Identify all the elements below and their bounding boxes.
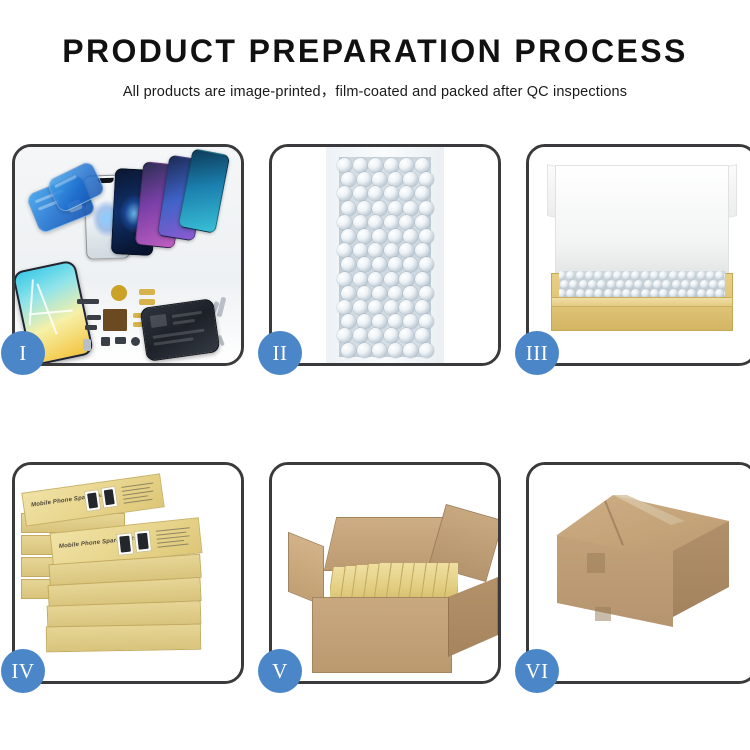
bubble (341, 172, 356, 187)
bubble (337, 158, 352, 173)
bubble (399, 300, 414, 315)
bubble (718, 280, 725, 289)
process-step-grid: I II III (12, 144, 738, 684)
bubble (631, 271, 640, 280)
bubble (700, 280, 709, 289)
page-header: PRODUCT PREPARATION PROCESS All products… (0, 0, 750, 101)
bubble (419, 343, 434, 358)
bubble (368, 215, 383, 230)
bubble (337, 186, 352, 201)
bubble (576, 271, 585, 280)
bubble (709, 280, 718, 289)
step-3-image (529, 147, 750, 363)
bubble (341, 229, 356, 244)
bubble (353, 215, 368, 230)
bubble (419, 257, 434, 272)
bubble (384, 272, 399, 287)
bubble (337, 328, 352, 343)
bubble (403, 229, 418, 244)
bubble (419, 201, 434, 216)
bubble (715, 271, 724, 280)
bubble (613, 271, 622, 280)
bubble (616, 280, 625, 289)
bubble (403, 201, 418, 216)
carton-tab (587, 553, 605, 573)
bubble (337, 272, 352, 287)
bubble (399, 186, 414, 201)
bubble (678, 271, 687, 280)
step-badge-5: V (258, 649, 302, 693)
bubble (403, 172, 418, 187)
bubble (690, 280, 699, 289)
bubble (622, 271, 631, 280)
bubble (372, 201, 387, 216)
bubble (341, 343, 356, 358)
bubble (403, 314, 418, 329)
process-step-panel-1[interactable]: I (12, 144, 244, 366)
bubble (669, 271, 678, 280)
bubble (357, 257, 372, 272)
bubble (384, 300, 399, 315)
carton-contents-boxes (330, 561, 458, 599)
bubble (687, 271, 696, 280)
bubble (341, 257, 356, 272)
bubble (357, 229, 372, 244)
bubble (353, 272, 368, 287)
bubble (388, 257, 403, 272)
bubble (634, 280, 643, 289)
bubble (566, 271, 575, 280)
bubble (368, 300, 383, 315)
bubble (353, 158, 368, 173)
bubble (419, 314, 434, 329)
bubble (399, 328, 414, 343)
bubble (388, 229, 403, 244)
process-step-panel-3[interactable]: III (526, 144, 750, 366)
step-5-image (272, 465, 498, 681)
bubble (588, 280, 597, 289)
bubble (399, 243, 414, 258)
lid-spec-lines (156, 527, 194, 552)
lid-screen-image (134, 529, 152, 553)
process-step-panel-5[interactable]: V (269, 462, 501, 684)
process-step-panel-4[interactable]: Mobile Phone Spare Parts Mobile Phone Sp… (12, 462, 244, 684)
bubble (672, 280, 681, 289)
bubble (597, 280, 606, 289)
step-badge-6: VI (515, 649, 559, 693)
bubble (419, 286, 434, 301)
bubble (644, 280, 653, 289)
bubble (368, 186, 383, 201)
step-4-image: Mobile Phone Spare Parts Mobile Phone Sp… (15, 465, 241, 681)
bubble (604, 271, 613, 280)
bubble (415, 215, 430, 230)
bubble (585, 271, 594, 280)
step-badge-2: II (258, 331, 302, 375)
inner-box-front-lip (551, 297, 733, 307)
bubble (607, 280, 616, 289)
bubble (368, 272, 383, 287)
page-subtitle: All products are image-printed，film-coat… (0, 80, 750, 101)
box-lid-back (555, 165, 729, 275)
bubble (560, 280, 569, 289)
bubble (388, 314, 403, 329)
bubble (388, 286, 403, 301)
bubble (372, 343, 387, 358)
bubble (353, 300, 368, 315)
bubble (368, 328, 383, 343)
bubble (357, 314, 372, 329)
bubble (384, 186, 399, 201)
bubble (403, 257, 418, 272)
bubble (659, 271, 668, 280)
bubble (357, 286, 372, 301)
bubble (415, 158, 430, 173)
bubble (594, 271, 603, 280)
bubble (403, 286, 418, 301)
bubble (368, 243, 383, 258)
bubble (341, 286, 356, 301)
step-badge-3: III (515, 331, 559, 375)
process-step-panel-2[interactable]: II (269, 144, 501, 366)
bubble (388, 343, 403, 358)
phone-back-housing (140, 298, 221, 362)
bubble (337, 243, 352, 258)
bubble (388, 172, 403, 187)
bubble (353, 186, 368, 201)
bubble (353, 328, 368, 343)
bubble (399, 272, 414, 287)
bubble (341, 201, 356, 216)
step-badge-4: IV (1, 649, 45, 693)
bubble (403, 343, 418, 358)
bubble (337, 300, 352, 315)
bubble-wrapped-contents (559, 271, 725, 299)
bubble (357, 343, 372, 358)
bubble (384, 243, 399, 258)
bubble (650, 271, 659, 280)
bubble (372, 229, 387, 244)
step-badge-1: I (1, 331, 45, 375)
step-6-image (529, 465, 750, 681)
bubble (569, 280, 578, 289)
bubble (653, 280, 662, 289)
bubble (372, 314, 387, 329)
bubble (419, 172, 434, 187)
retail-box-layer (46, 624, 201, 651)
bubble (372, 257, 387, 272)
bubble (384, 158, 399, 173)
bubble (697, 271, 706, 280)
bubble (399, 158, 414, 173)
bubble (559, 271, 566, 280)
bubble (337, 215, 352, 230)
bubble (415, 328, 430, 343)
bubble (625, 280, 634, 289)
lid-screen-image (84, 489, 102, 512)
bubble (368, 158, 383, 173)
bubble (415, 272, 430, 287)
bubble (353, 243, 368, 258)
step-2-image (272, 147, 498, 363)
bubble (384, 328, 399, 343)
bubble (415, 243, 430, 258)
bubble (357, 201, 372, 216)
lid-screen-image (100, 486, 118, 509)
bubble (388, 201, 403, 216)
bubble (384, 215, 399, 230)
bubble (415, 300, 430, 315)
retail-box-stack: Mobile Phone Spare Parts Mobile Phone Sp… (21, 481, 241, 671)
lid-screen-image (116, 532, 134, 556)
bubble (681, 280, 690, 289)
bubble (357, 172, 372, 187)
bubble (399, 215, 414, 230)
page-title: PRODUCT PREPARATION PROCESS (0, 34, 750, 69)
bubble (372, 286, 387, 301)
process-step-panel-6[interactable]: VI (526, 462, 750, 684)
bubble (706, 271, 715, 280)
bubble (579, 280, 588, 289)
bubble-wrap-bubbles (339, 157, 431, 357)
bubble (372, 172, 387, 187)
bubble (419, 229, 434, 244)
bubble (641, 271, 650, 280)
carton-front-face (312, 597, 452, 673)
bubble (415, 186, 430, 201)
step-1-image (15, 147, 241, 363)
bubble (724, 271, 725, 280)
bubble (341, 314, 356, 329)
bubble (662, 280, 671, 289)
carton-tab (595, 607, 611, 621)
